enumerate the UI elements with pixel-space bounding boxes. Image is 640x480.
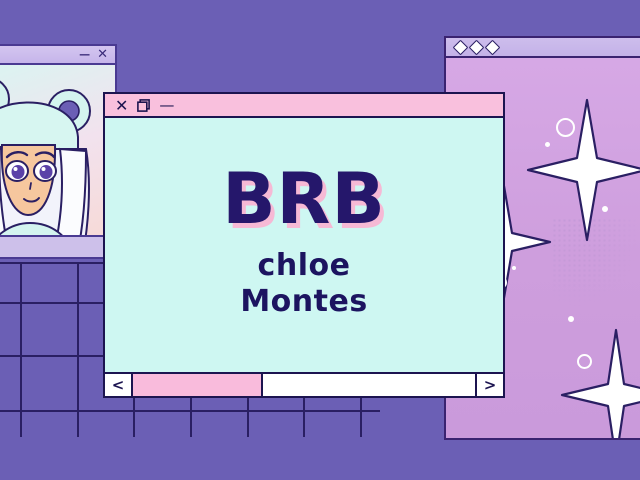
sparkle-dot (602, 206, 608, 212)
left-window-footer (0, 235, 115, 257)
grid-line-vertical (20, 262, 22, 437)
username-last: Montes (240, 286, 367, 318)
close-icon[interactable]: ✕ (97, 47, 108, 62)
brb-window[interactable]: ✕ — BRB chloe Montes < > (103, 92, 505, 398)
minimize-icon[interactable]: — (79, 48, 90, 61)
screenshot-canvas: — ✕ (0, 0, 640, 480)
scroll-left-button[interactable]: < (105, 374, 133, 396)
main-window-titlebar[interactable]: ✕ — (105, 94, 503, 118)
close-icon[interactable]: ✕ (115, 96, 128, 115)
scrollbar-thumb[interactable] (133, 374, 263, 396)
username-first: chloe (258, 250, 351, 282)
brb-window-content: BRB chloe Montes (105, 118, 503, 372)
sparkle-diamond-icon (453, 39, 469, 55)
scrollbar-track[interactable] (133, 374, 475, 396)
sparkle-dot (545, 142, 550, 147)
four-point-star (562, 330, 640, 440)
sparkle-dot (512, 266, 516, 270)
ring-bubble (577, 354, 592, 369)
restore-window-icon[interactable] (137, 99, 150, 112)
page-title: BRB (222, 165, 386, 234)
ring-bubble (556, 118, 575, 137)
grid-line-vertical (77, 262, 79, 437)
ring-bubble (592, 390, 603, 401)
sparkle-dot (568, 316, 574, 322)
scroll-right-button[interactable]: > (475, 374, 503, 396)
horizontal-scrollbar[interactable]: < > (105, 372, 503, 396)
minimize-icon[interactable]: — (159, 96, 174, 114)
right-window-titlebar[interactable] (446, 38, 640, 58)
sparkle-diamond-icon (469, 39, 485, 55)
sparkle-diamond-icon (485, 39, 501, 55)
left-window-titlebar[interactable]: — ✕ (0, 46, 115, 65)
anime-girl-illustration (0, 65, 115, 259)
profile-illustration-window[interactable]: — ✕ (0, 44, 117, 259)
